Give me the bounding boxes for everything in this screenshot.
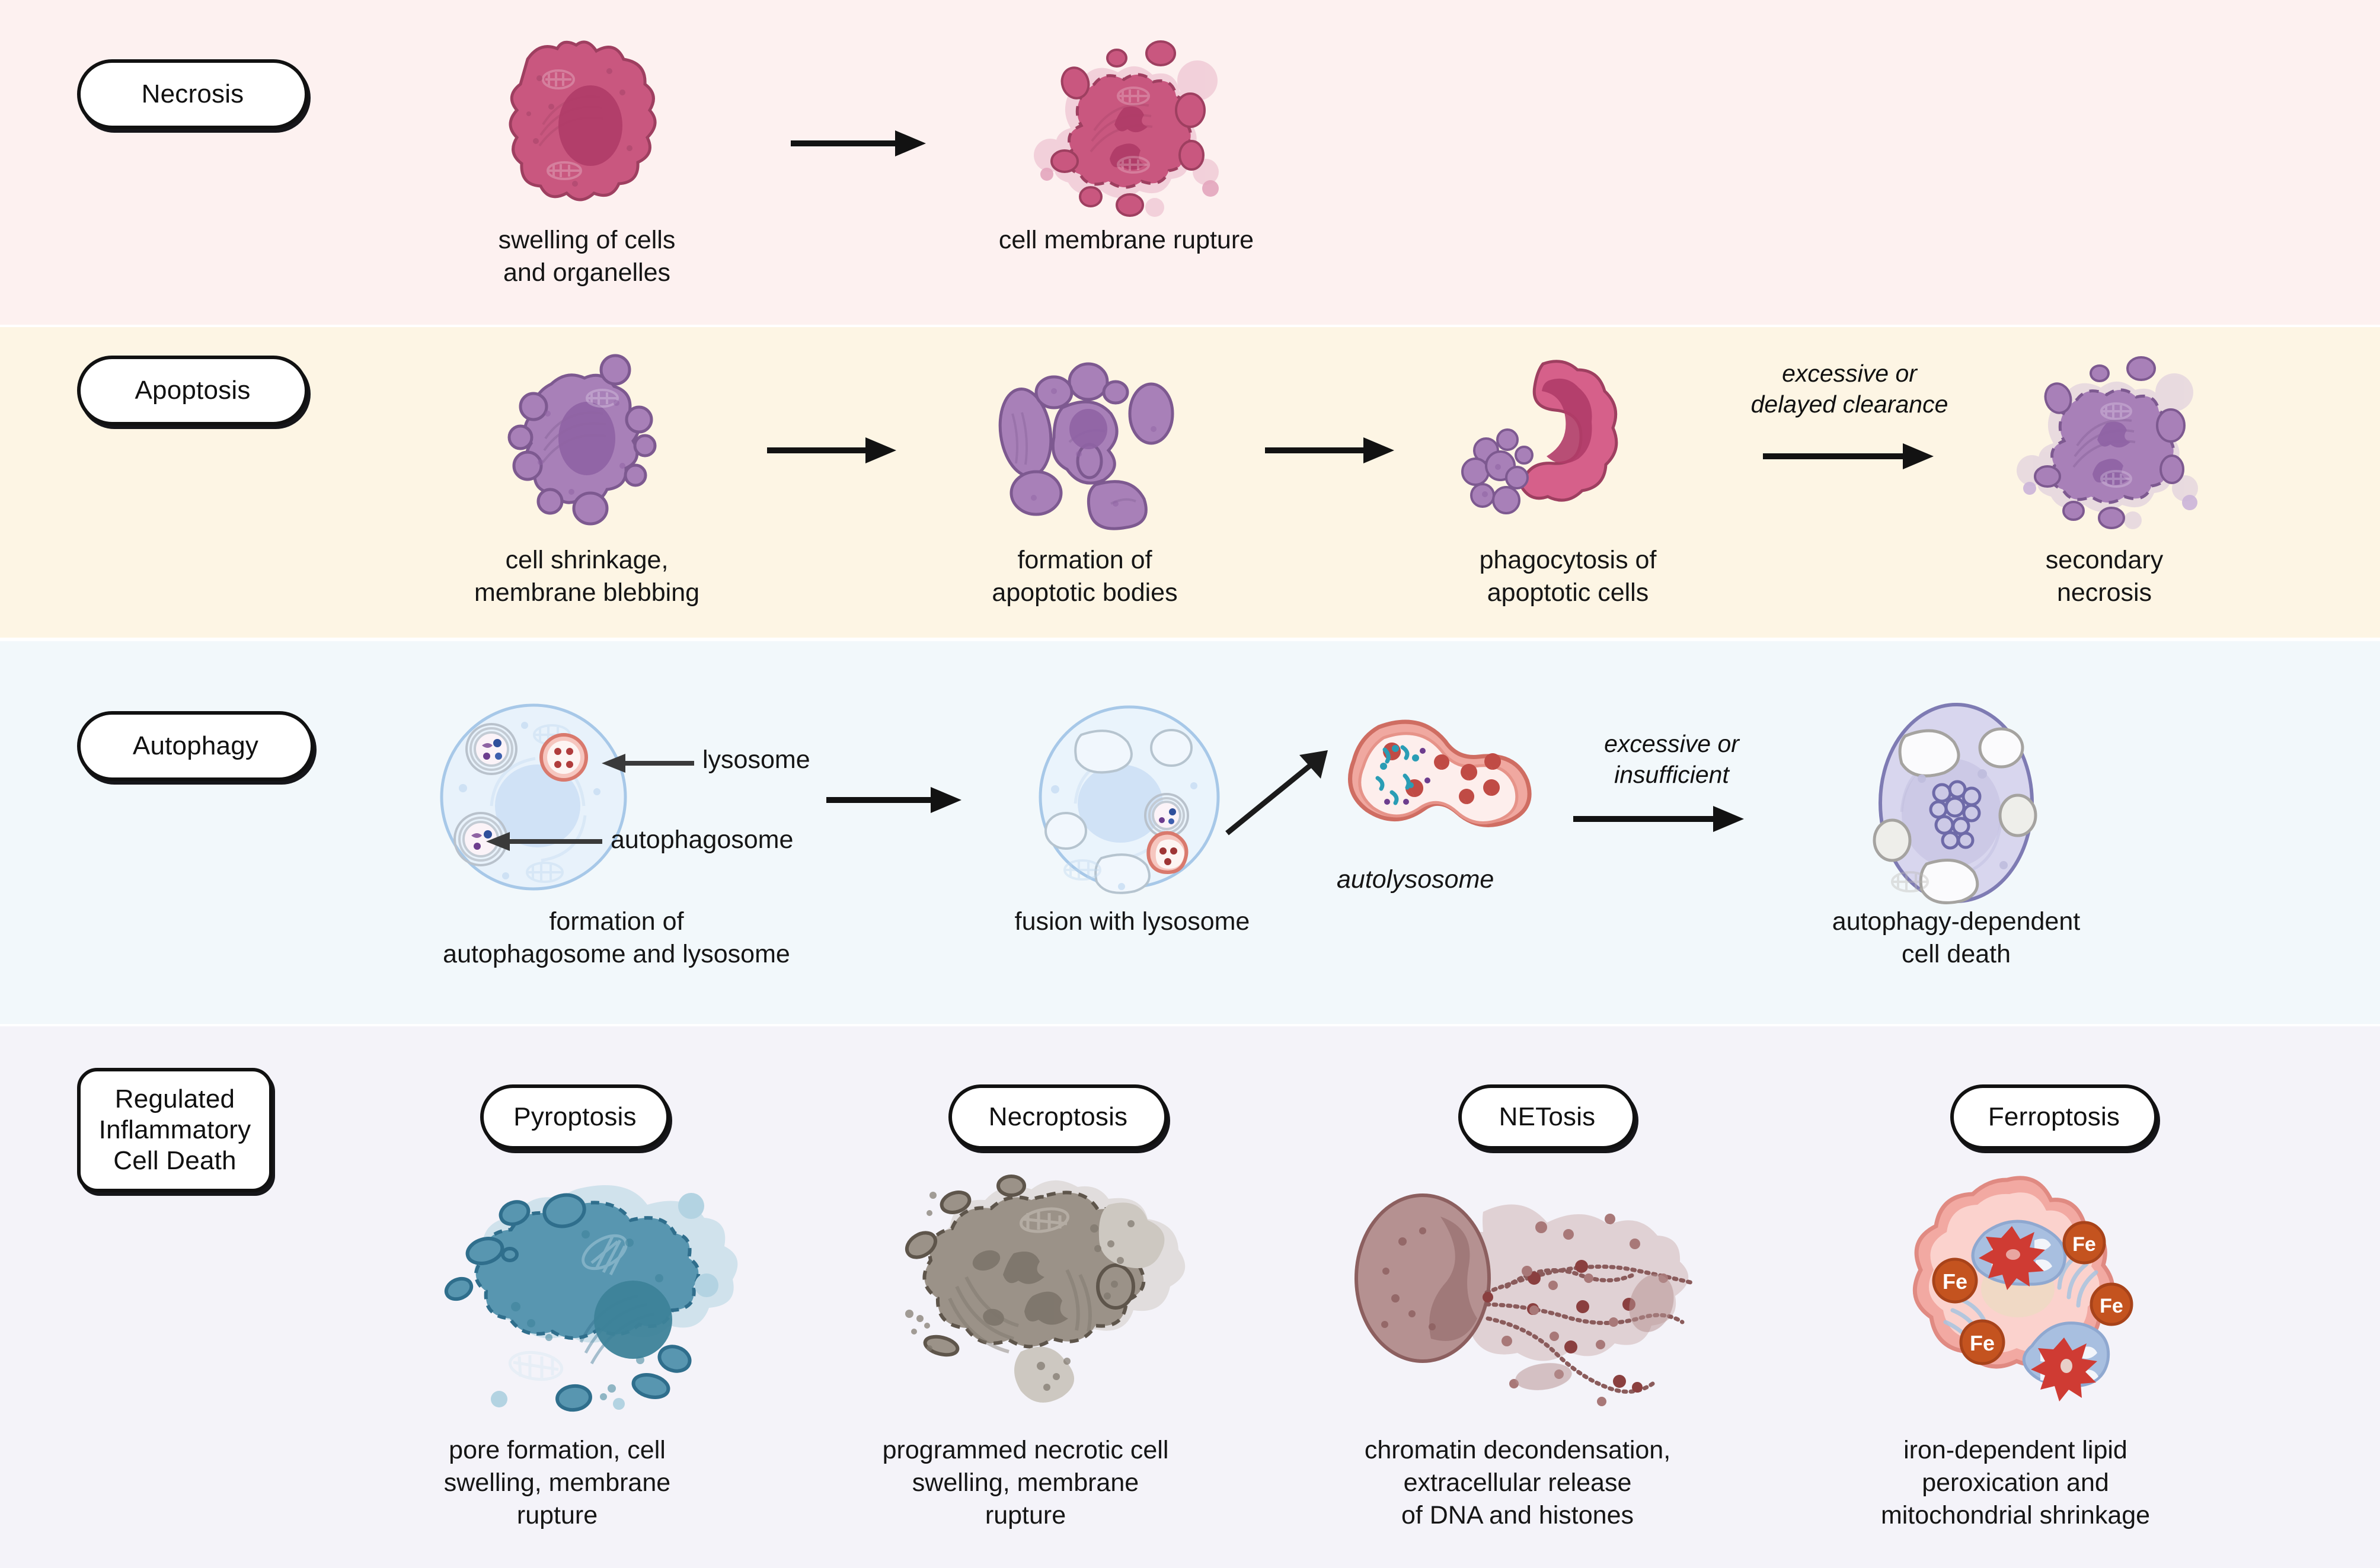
column-caption-ferroptosis: iron-dependent lipid peroxication and mi…: [1814, 1434, 2217, 1532]
arrow-apoptosis-3: [1761, 439, 1938, 474]
cell-illustration-netosis: [1346, 1176, 1713, 1407]
arrow-apoptosis-2: [1263, 433, 1399, 468]
iron-granule: Fe: [1934, 1259, 1976, 1302]
arrow-autolysosome: [1221, 745, 1334, 840]
row-label-apoptosis: Apoptosis: [77, 356, 308, 425]
iron-granule-label: Fe: [1970, 1331, 1995, 1355]
arrow-autophagy-1: [824, 782, 966, 818]
column-label-pyroptosis: Pyroptosis: [480, 1084, 670, 1150]
cell-illustration-necroptosis: [871, 1170, 1203, 1407]
row-label-autophagy-text: Autophagy: [133, 731, 258, 761]
cell-illustration-autophagy-dependent-death: [1855, 699, 2057, 907]
organelle-lysosome: [541, 735, 586, 780]
cell-illustration-apoptosis-blebbing: [474, 350, 688, 527]
cell-illustration-autophagy-formation: [436, 699, 631, 895]
annotation-label-autolysosome: autolysosome: [1337, 865, 1494, 894]
organelle-lysosome-fusing: [1148, 833, 1186, 872]
cell-illustration-pyroptosis: [403, 1170, 759, 1413]
row-label-necrosis-text: Necrosis: [142, 79, 244, 110]
cell-illustration-autophagy-fusion: [1031, 699, 1227, 895]
column-label-necroptosis: Necroptosis: [948, 1084, 1168, 1150]
iron-granule-label: Fe: [1943, 1269, 1967, 1294]
iron-granule-label: Fe: [2072, 1233, 2096, 1256]
annotation-label-autophagosome: autophagosome: [611, 825, 793, 855]
column-caption-netosis: chromatin decondensation, extracellular …: [1322, 1434, 1713, 1532]
column-caption-necroptosis: programmed necrotic cell swelling, membr…: [842, 1434, 1209, 1532]
iron-granule-label: Fe: [2100, 1295, 2123, 1317]
arrow-apoptosis-1: [765, 433, 901, 468]
step-caption-autophagy-3: autophagy-dependent cell death: [1790, 905, 2122, 971]
column-label-necroptosis-text: Necroptosis: [989, 1102, 1128, 1132]
cell-illustration-autolysosome: [1322, 714, 1535, 850]
row-label-apoptosis-text: Apoptosis: [135, 375, 250, 406]
column-label-ferroptosis-text: Ferroptosis: [1988, 1102, 2120, 1132]
cell-illustration-phagocytosis: [1455, 356, 1651, 527]
transition-label-autophagy-2: excessive or insufficient: [1553, 729, 1790, 790]
step-caption-necrosis-1: swelling of cells and organelles: [439, 224, 735, 289]
arrow-autophagy-2: [1571, 801, 1749, 837]
annotation-arrow-autophagosome: [486, 830, 605, 853]
step-caption-autophagy-1: formation of autophagosome and lysosome: [439, 905, 794, 971]
column-label-ferroptosis: Ferroptosis: [1950, 1084, 2158, 1150]
step-caption-autophagy-2: fusion with lysosome: [1002, 905, 1263, 938]
row-label-necrosis: Necrosis: [77, 59, 308, 129]
annotation-label-lysosome: lysosome: [702, 745, 810, 775]
cell-illustration-secondary-necrosis: [1986, 344, 2223, 533]
row-label-regulated-inflammatory-cell-death: Regulated Inflammatory Cell Death: [77, 1068, 273, 1192]
cell-illustration-apoptotic-bodies: [984, 356, 1197, 533]
row-label-ricd-text: Regulated Inflammatory Cell Death: [81, 1084, 269, 1176]
arrow-necrosis-1: [788, 126, 931, 161]
step-caption-apoptosis-4: secondary necrosis: [1974, 544, 2235, 609]
iron-granule: Fe: [2064, 1223, 2104, 1263]
cell-illustration-ferroptosis: Fe Fe Fe Fe: [1891, 1170, 2140, 1407]
step-caption-apoptosis-2: formation of apoptotic bodies: [948, 544, 1221, 609]
column-label-netosis-text: NETosis: [1499, 1102, 1596, 1132]
step-caption-apoptosis-1: cell shrinkage, membrane blebbing: [427, 544, 747, 609]
step-caption-necrosis-2: cell membrane rupture: [960, 224, 1292, 257]
cell-death-diagram: Necrosis: [0, 0, 2380, 1568]
annotation-arrow-lysosome: [602, 751, 697, 775]
column-label-pyroptosis-text: Pyroptosis: [513, 1102, 636, 1132]
cell-illustration-necrosis-ruptured: [1002, 30, 1251, 219]
column-caption-pyroptosis: pore formation, cell swelling, membrane …: [403, 1434, 711, 1532]
step-caption-apoptosis-3: phagocytosis of apoptotic cells: [1440, 544, 1695, 609]
row-label-autophagy: Autophagy: [77, 711, 314, 781]
column-label-netosis: NETosis: [1458, 1084, 1636, 1150]
organelle-autophagosome-upper: [467, 724, 516, 774]
cell-illustration-necrosis-swollen: [474, 36, 699, 213]
iron-granule: Fe: [1961, 1321, 2004, 1364]
iron-granule: Fe: [2091, 1284, 2132, 1324]
transition-label-apoptosis-3: excessive or delayed clearance: [1719, 359, 1980, 420]
